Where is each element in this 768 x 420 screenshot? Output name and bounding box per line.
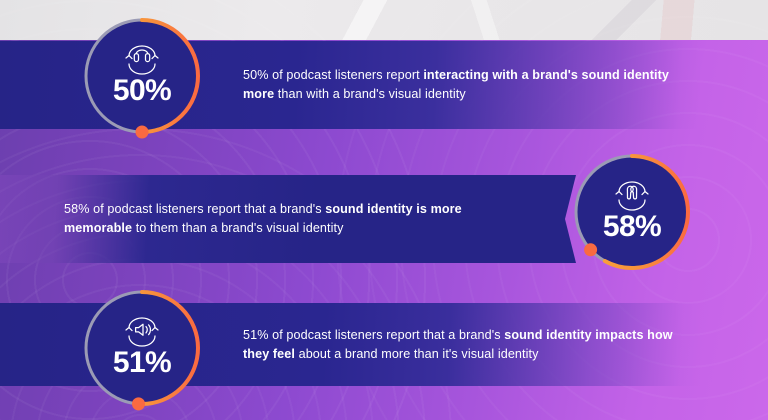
stat-3-statement: 51% of podcast listeners report that a b…	[243, 326, 700, 364]
stat-2-statement: 58% of podcast listeners report that a b…	[64, 200, 519, 238]
stat-bar-2: 58% of podcast listeners report that a b…	[0, 175, 576, 263]
stat-badge-1: 50%	[78, 12, 206, 140]
stat-badge-2: 58%	[568, 148, 696, 276]
infographic-canvas: 50% of podcast listeners report interact…	[0, 0, 768, 420]
headphones-refresh-icon	[78, 45, 206, 75]
earbuds-refresh-icon	[568, 181, 696, 211]
badge-3-percent: 51%	[78, 348, 206, 378]
badge-1-percent: 50%	[78, 76, 206, 106]
stat-1-statement: 50% of podcast listeners report interact…	[243, 66, 700, 104]
speaker-refresh-icon	[78, 317, 206, 347]
badge-2-percent: 58%	[568, 212, 696, 242]
stat-badge-3: 51%	[78, 284, 206, 412]
